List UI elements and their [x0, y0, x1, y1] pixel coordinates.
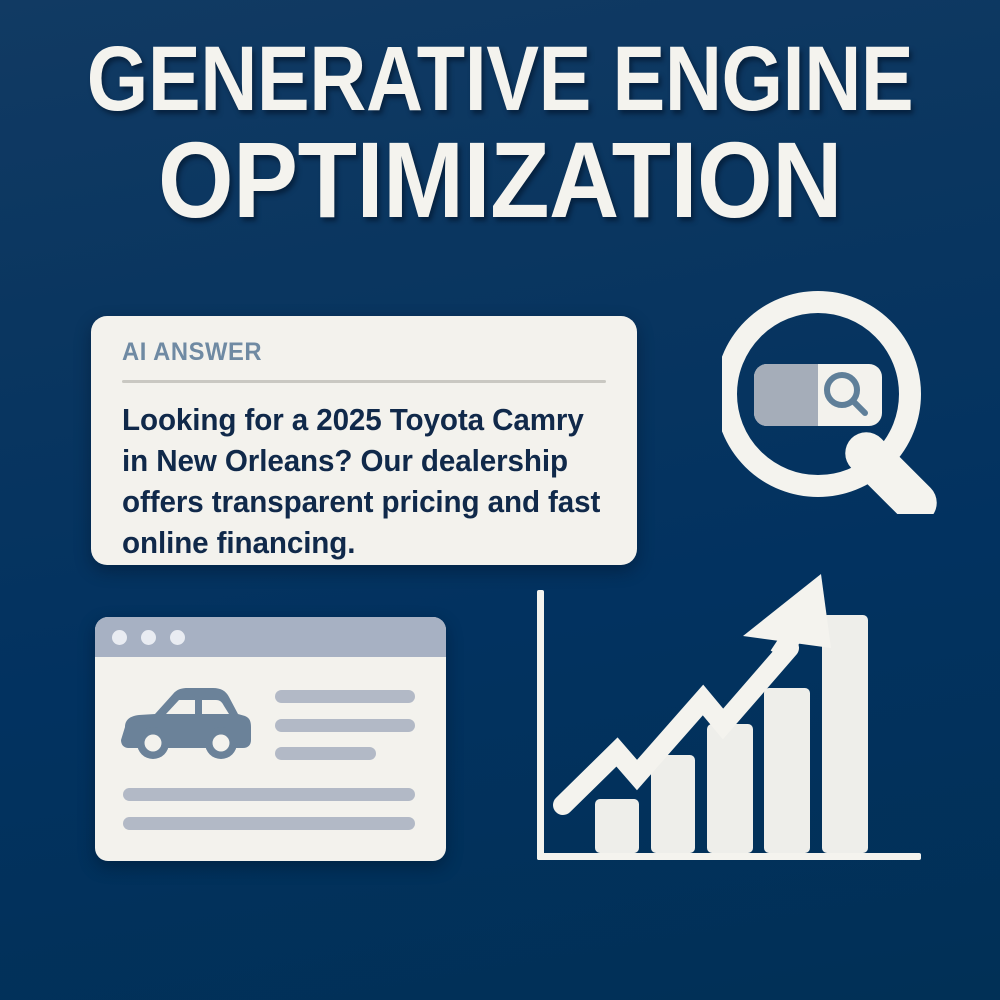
poster-canvas: GENERATIVE ENGINE OPTIMIZATION AI ANSWER…: [0, 0, 1000, 1000]
car-icon: [117, 685, 253, 759]
browser-titlebar: [95, 617, 446, 657]
search-bar-inside-lens: [754, 364, 882, 426]
window-dot-3-icon: [170, 630, 185, 645]
skeleton-line-4: [123, 788, 415, 801]
window-dot-1-icon: [112, 630, 127, 645]
skeleton-line-5: [123, 817, 415, 830]
bar-2: [651, 755, 695, 853]
browser-content: [95, 657, 446, 861]
car-wheel-rear-inner: [213, 735, 230, 752]
chart-bars: [595, 615, 868, 853]
magnifying-glass-icon: [722, 282, 952, 514]
page-title: GENERATIVE ENGINE OPTIMIZATION: [0, 34, 1000, 234]
ai-answer-label: AI ANSWER: [122, 338, 583, 367]
bar-4: [764, 688, 810, 853]
title-line-2: OPTIMIZATION: [50, 126, 950, 234]
x-axis: [537, 853, 921, 860]
bar-1: [595, 799, 639, 853]
bar-3: [707, 724, 753, 853]
title-line-1: GENERATIVE ENGINE: [70, 34, 930, 124]
y-axis: [537, 590, 544, 860]
browser-window-mockup: [95, 617, 446, 861]
skeleton-line-2: [275, 719, 415, 732]
car-wheel-front-inner: [145, 735, 162, 752]
ai-answer-divider: [122, 380, 606, 383]
bar-5: [822, 615, 868, 853]
skeleton-line-1: [275, 690, 415, 703]
ai-answer-body: Looking for a 2025 Toyota Camry in New O…: [122, 400, 607, 564]
skeleton-line-3: [275, 747, 376, 760]
growth-bar-chart: [521, 552, 921, 872]
window-dot-2-icon: [141, 630, 156, 645]
ai-answer-card: AI ANSWER Looking for a 2025 Toyota Camr…: [91, 316, 637, 565]
